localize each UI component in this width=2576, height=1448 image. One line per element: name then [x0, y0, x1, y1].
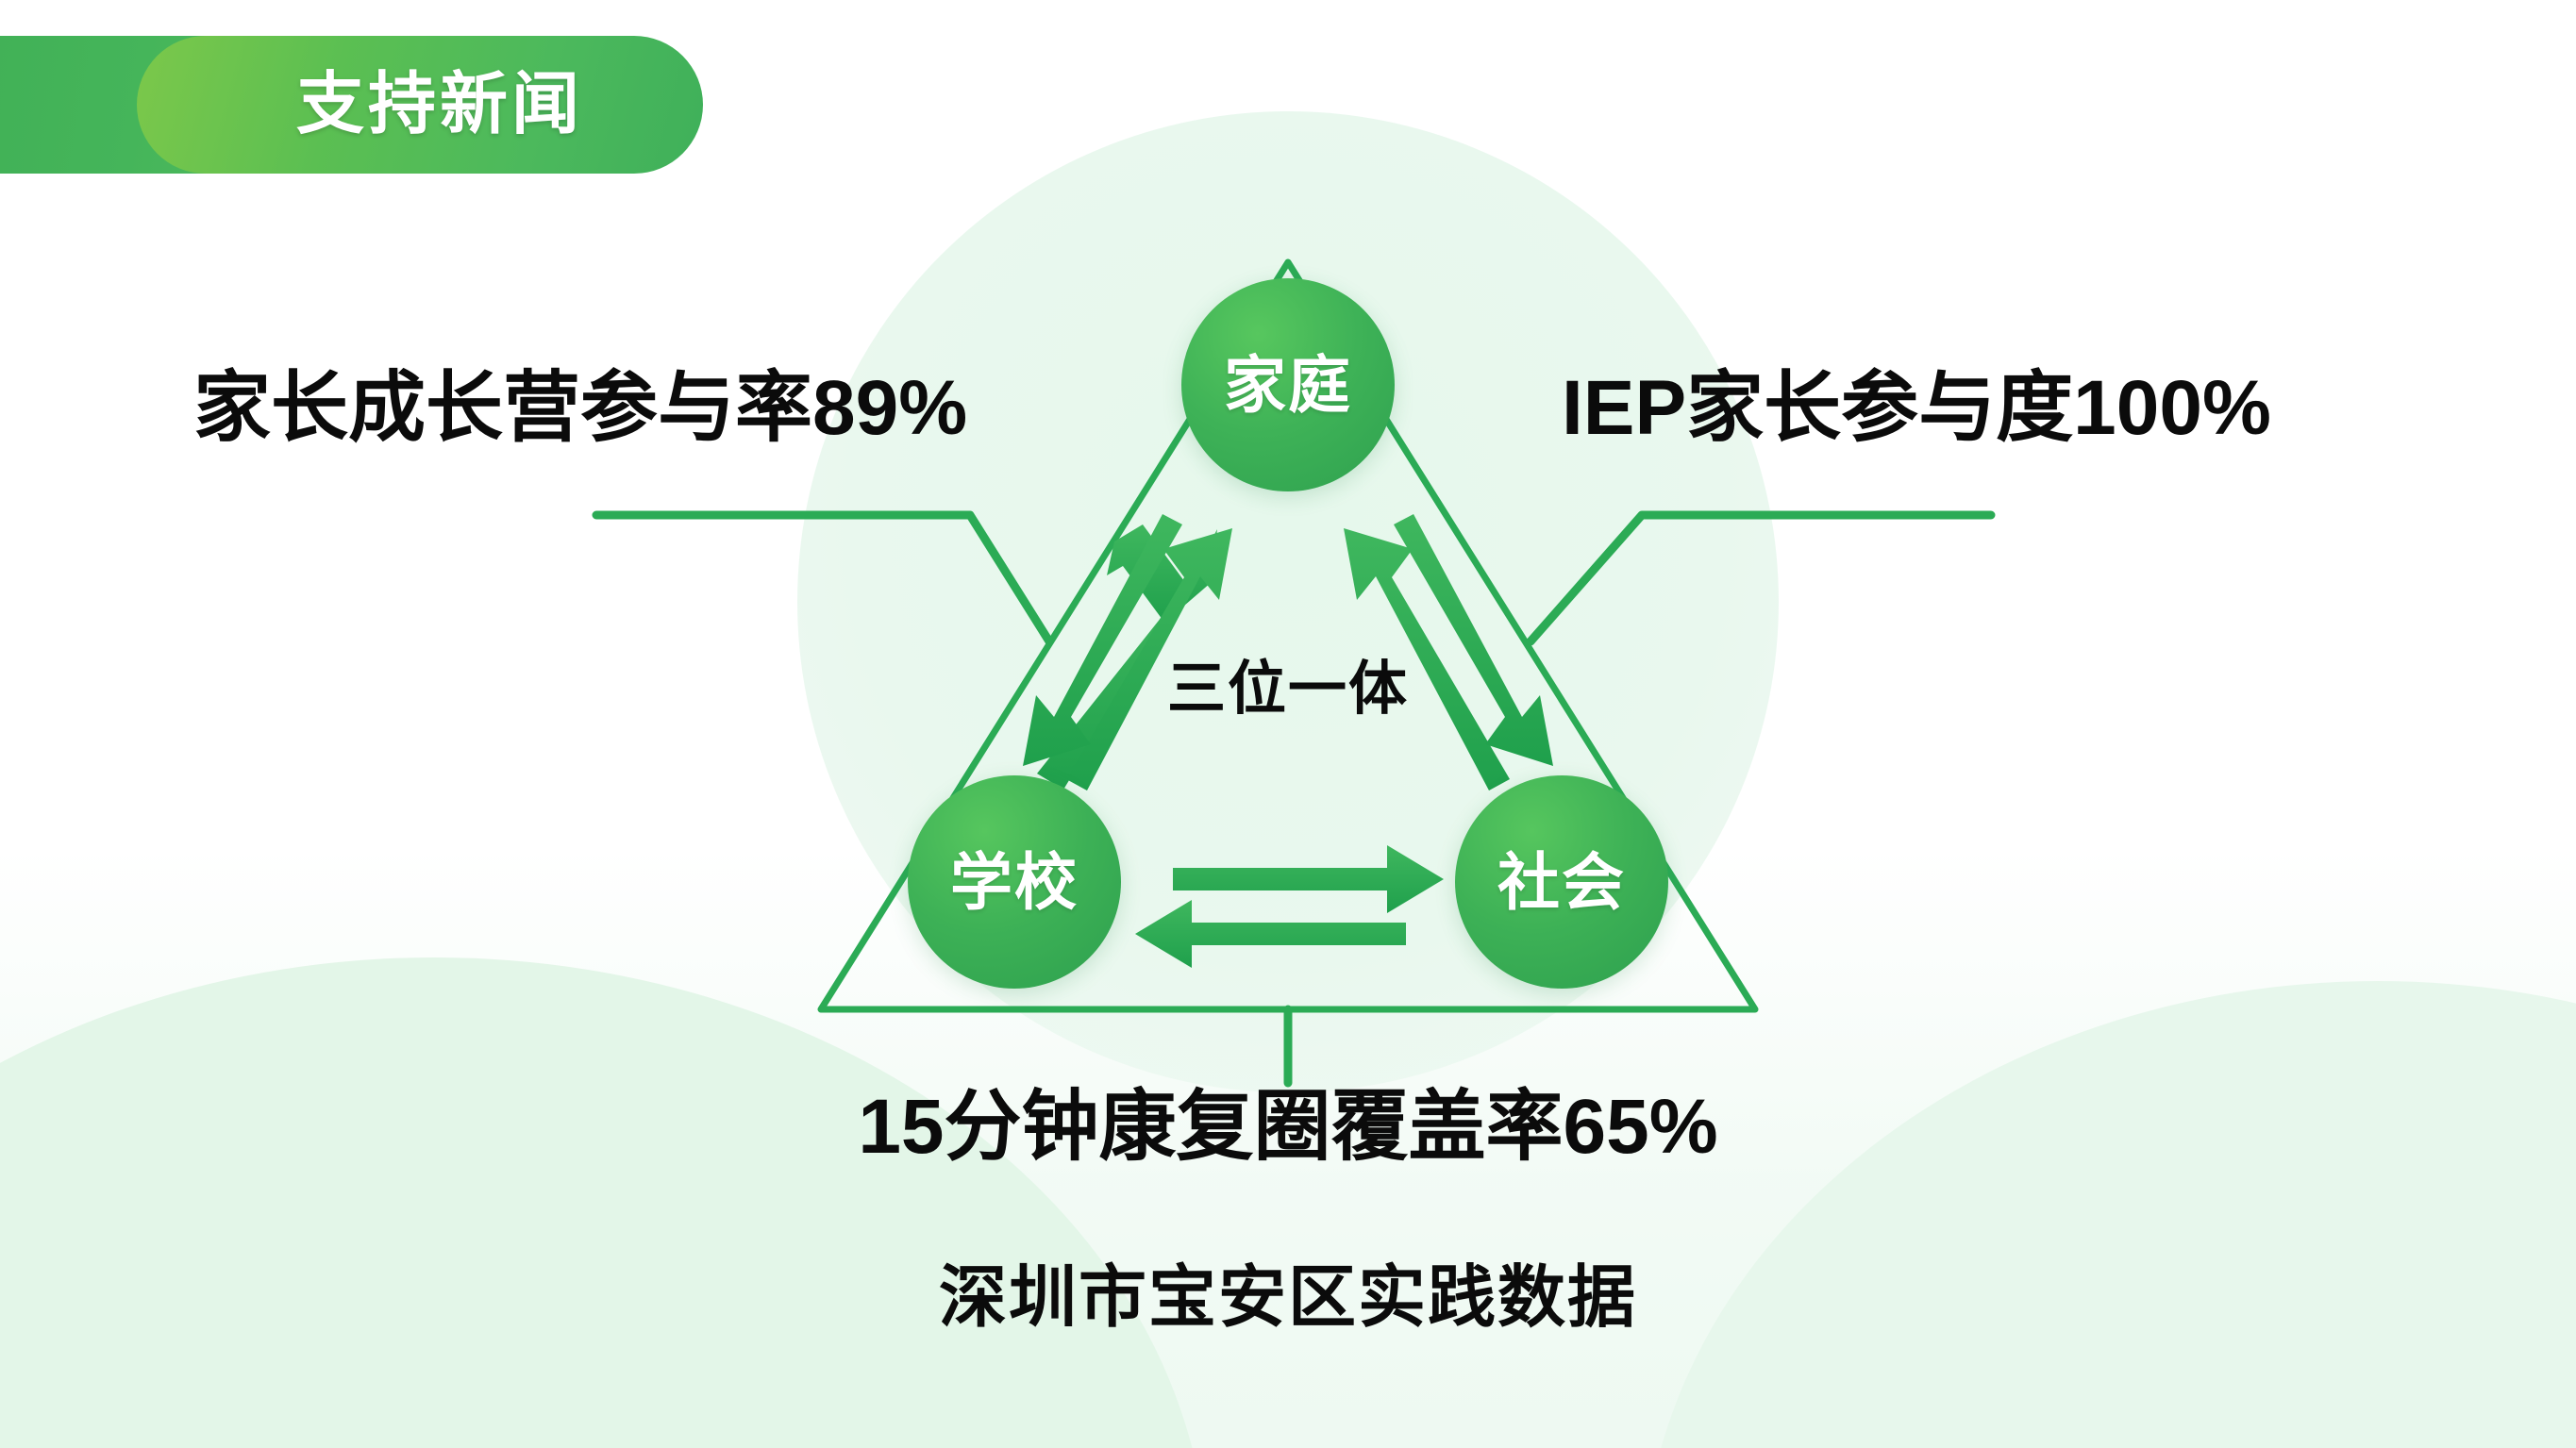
node-society[interactable]: 社会	[1455, 775, 1668, 989]
stat-right: IEP家长参与度100%	[1562, 368, 2271, 449]
node-school-label: 学校	[950, 851, 1079, 913]
node-family-label: 家庭	[1224, 354, 1352, 416]
arrow-school-to-society	[1173, 845, 1444, 913]
slide-caption: 深圳市宝安区实践数据	[0, 1264, 2576, 1332]
stat-bottom: 15分钟康复圈覆盖率65%	[0, 1087, 2576, 1168]
node-family[interactable]: 家庭	[1181, 278, 1395, 491]
node-society-label: 社会	[1497, 851, 1626, 913]
leader-line-right	[1531, 515, 1991, 641]
arrow-society-to-school	[1135, 900, 1406, 968]
slide-canvas: 支持新闻	[0, 0, 2576, 1448]
triangle-diagram: 家庭 学校 社会 三位一体	[0, 0, 2576, 1448]
node-school[interactable]: 学校	[908, 775, 1121, 989]
leader-line-left	[596, 515, 1049, 641]
diagram-center-label: 三位一体	[1109, 660, 1467, 719]
stat-left: 家长成长营参与率89%	[193, 368, 967, 449]
diagram-connectors	[0, 0, 2576, 1448]
